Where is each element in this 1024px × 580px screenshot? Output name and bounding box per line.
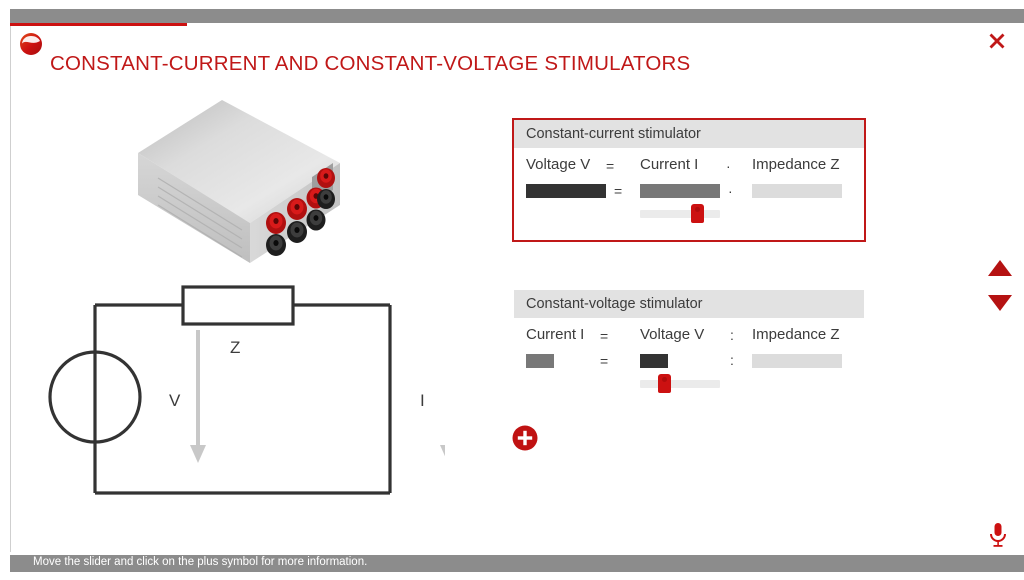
circuit-label-i: I <box>420 391 425 410</box>
slider-row[interactable] <box>514 206 864 228</box>
term-label-2: Impedance Z <box>752 156 840 173</box>
triangle-down-icon[interactable] <box>987 294 1013 312</box>
circle-s-logo-icon <box>17 30 45 58</box>
slider-row[interactable] <box>514 376 864 398</box>
value-bar-voltage <box>526 184 606 198</box>
slider-track[interactable] <box>640 380 720 388</box>
page-title: CONSTANT-CURRENT AND CONSTANT-VOLTAGE ST… <box>50 52 690 76</box>
slider-handle[interactable] <box>691 204 704 223</box>
operator-equals-bars: = <box>614 183 622 199</box>
operator-between-bars: : <box>730 352 734 368</box>
operator-equals-label: = <box>600 328 608 344</box>
content-left-border <box>10 26 11 552</box>
formula-labels-row: Current I = Voltage V : Impedance Z <box>514 326 864 354</box>
progress-fill <box>10 23 187 26</box>
slider-track[interactable] <box>640 210 720 218</box>
top-progress-bar-background <box>10 9 1024 23</box>
term-label-1: Current I <box>640 156 698 173</box>
circuit-label-z: Z <box>230 338 240 357</box>
stimulator-device-3d <box>130 95 355 275</box>
formula-bars-row: = · <box>514 184 864 206</box>
operator-between-label: : <box>730 327 734 343</box>
term-label-0: Current I <box>526 326 584 343</box>
operator-equals-label: = <box>606 158 614 174</box>
panel-body: Current I = Voltage V : Impedance Z = : <box>514 318 864 410</box>
value-bar-impedance <box>752 354 842 368</box>
term-label-1: Voltage V <box>640 326 704 343</box>
operator-equals-bars: = <box>600 353 608 369</box>
circuit-diagram: Z V I <box>45 275 445 520</box>
operator-between-bars: · <box>728 183 733 199</box>
slider-handle[interactable] <box>658 374 671 393</box>
circuit-label-v: V <box>169 391 181 410</box>
operator-between-label: · <box>726 158 731 174</box>
status-message: Move the slider and click on the plus sy… <box>33 556 367 568</box>
term-label-2: Impedance Z <box>752 326 840 343</box>
value-bar-current <box>526 354 554 368</box>
panel-constant-current[interactable]: Constant-current stimulator Voltage V = … <box>512 118 866 242</box>
plus-circle-icon[interactable] <box>512 425 538 451</box>
close-icon[interactable] <box>985 29 1009 53</box>
panel-title: Constant-voltage stimulator <box>514 290 864 318</box>
value-bar-current <box>640 184 720 198</box>
triangle-up-icon[interactable] <box>987 259 1013 277</box>
formula-labels-row: Voltage V = Current I · Impedance Z <box>514 156 864 184</box>
microphone-icon[interactable] <box>985 521 1011 551</box>
panel-body: Voltage V = Current I · Impedance Z = · <box>514 148 864 240</box>
panel-constant-voltage[interactable]: Constant-voltage stimulator Current I = … <box>512 288 866 412</box>
value-bar-impedance <box>752 184 842 198</box>
panel-title: Constant-current stimulator <box>514 120 864 148</box>
formula-bars-row: = : <box>514 354 864 376</box>
value-bar-voltage <box>640 354 668 368</box>
term-label-0: Voltage V <box>526 156 590 173</box>
